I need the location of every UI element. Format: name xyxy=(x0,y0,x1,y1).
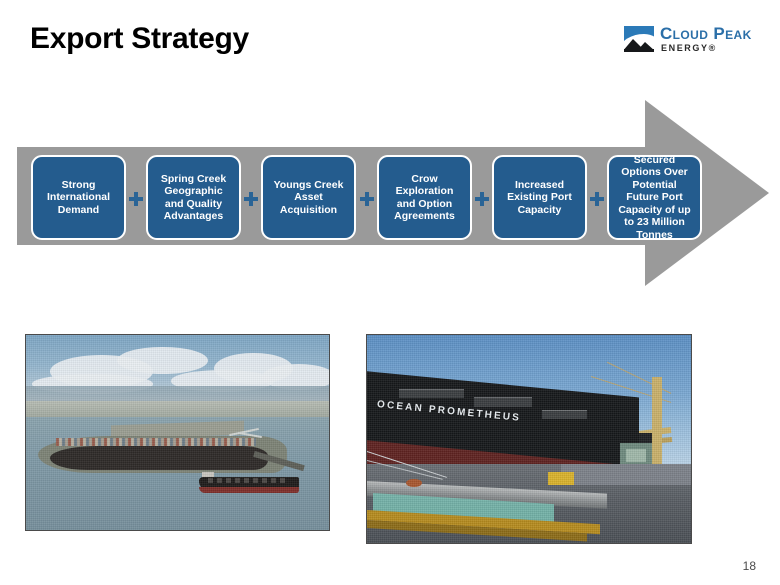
cloud-peak-energy-logo: Cloud Peak ENERGY® xyxy=(624,24,758,58)
plus-icon xyxy=(475,192,489,206)
logo-subtext: ENERGY® xyxy=(661,43,717,53)
plus-icon xyxy=(244,192,258,206)
plus-icon xyxy=(129,192,143,206)
process-step-label: StrongInternationalDemand xyxy=(47,179,110,217)
cloud-peak-mountain-icon xyxy=(624,26,654,52)
process-step-youngs-creek-acquisition[interactable]: Youngs CreekAssetAcquisition xyxy=(261,155,356,240)
page-title: Export Strategy xyxy=(30,22,249,56)
process-step-label: IncreasedExisting PortCapacity xyxy=(507,179,572,217)
process-step-label: CrowExplorationand OptionAgreements xyxy=(394,173,455,223)
process-step-spring-creek-advantages[interactable]: Spring CreekGeographicand QualityAdvanta… xyxy=(146,155,241,240)
plus-icon xyxy=(360,192,374,206)
page-number: 18 xyxy=(743,559,756,573)
process-step-increased-port-capacity[interactable]: IncreasedExisting PortCapacity xyxy=(492,155,587,240)
process-step-label: Youngs CreekAssetAcquisition xyxy=(274,179,344,217)
process-step-label: Spring CreekGeographicand QualityAdvanta… xyxy=(161,173,226,223)
ocean-prometheus-berth-photo: OCEAN PROMETHEUS xyxy=(366,334,692,544)
process-step-strong-international-demand[interactable]: StrongInternationalDemand xyxy=(31,155,126,240)
process-step-label: SecuredOptions OverPotentialFuture PortC… xyxy=(618,154,690,242)
logo-wordmark: Cloud Peak xyxy=(660,24,752,44)
process-step-secured-future-port-options[interactable]: SecuredOptions OverPotentialFuture PortC… xyxy=(607,155,702,240)
process-step-crow-exploration-agreements[interactable]: CrowExplorationand OptionAgreements xyxy=(377,155,472,240)
aerial-coal-terminal-photo xyxy=(25,334,330,531)
plus-icon xyxy=(590,192,604,206)
